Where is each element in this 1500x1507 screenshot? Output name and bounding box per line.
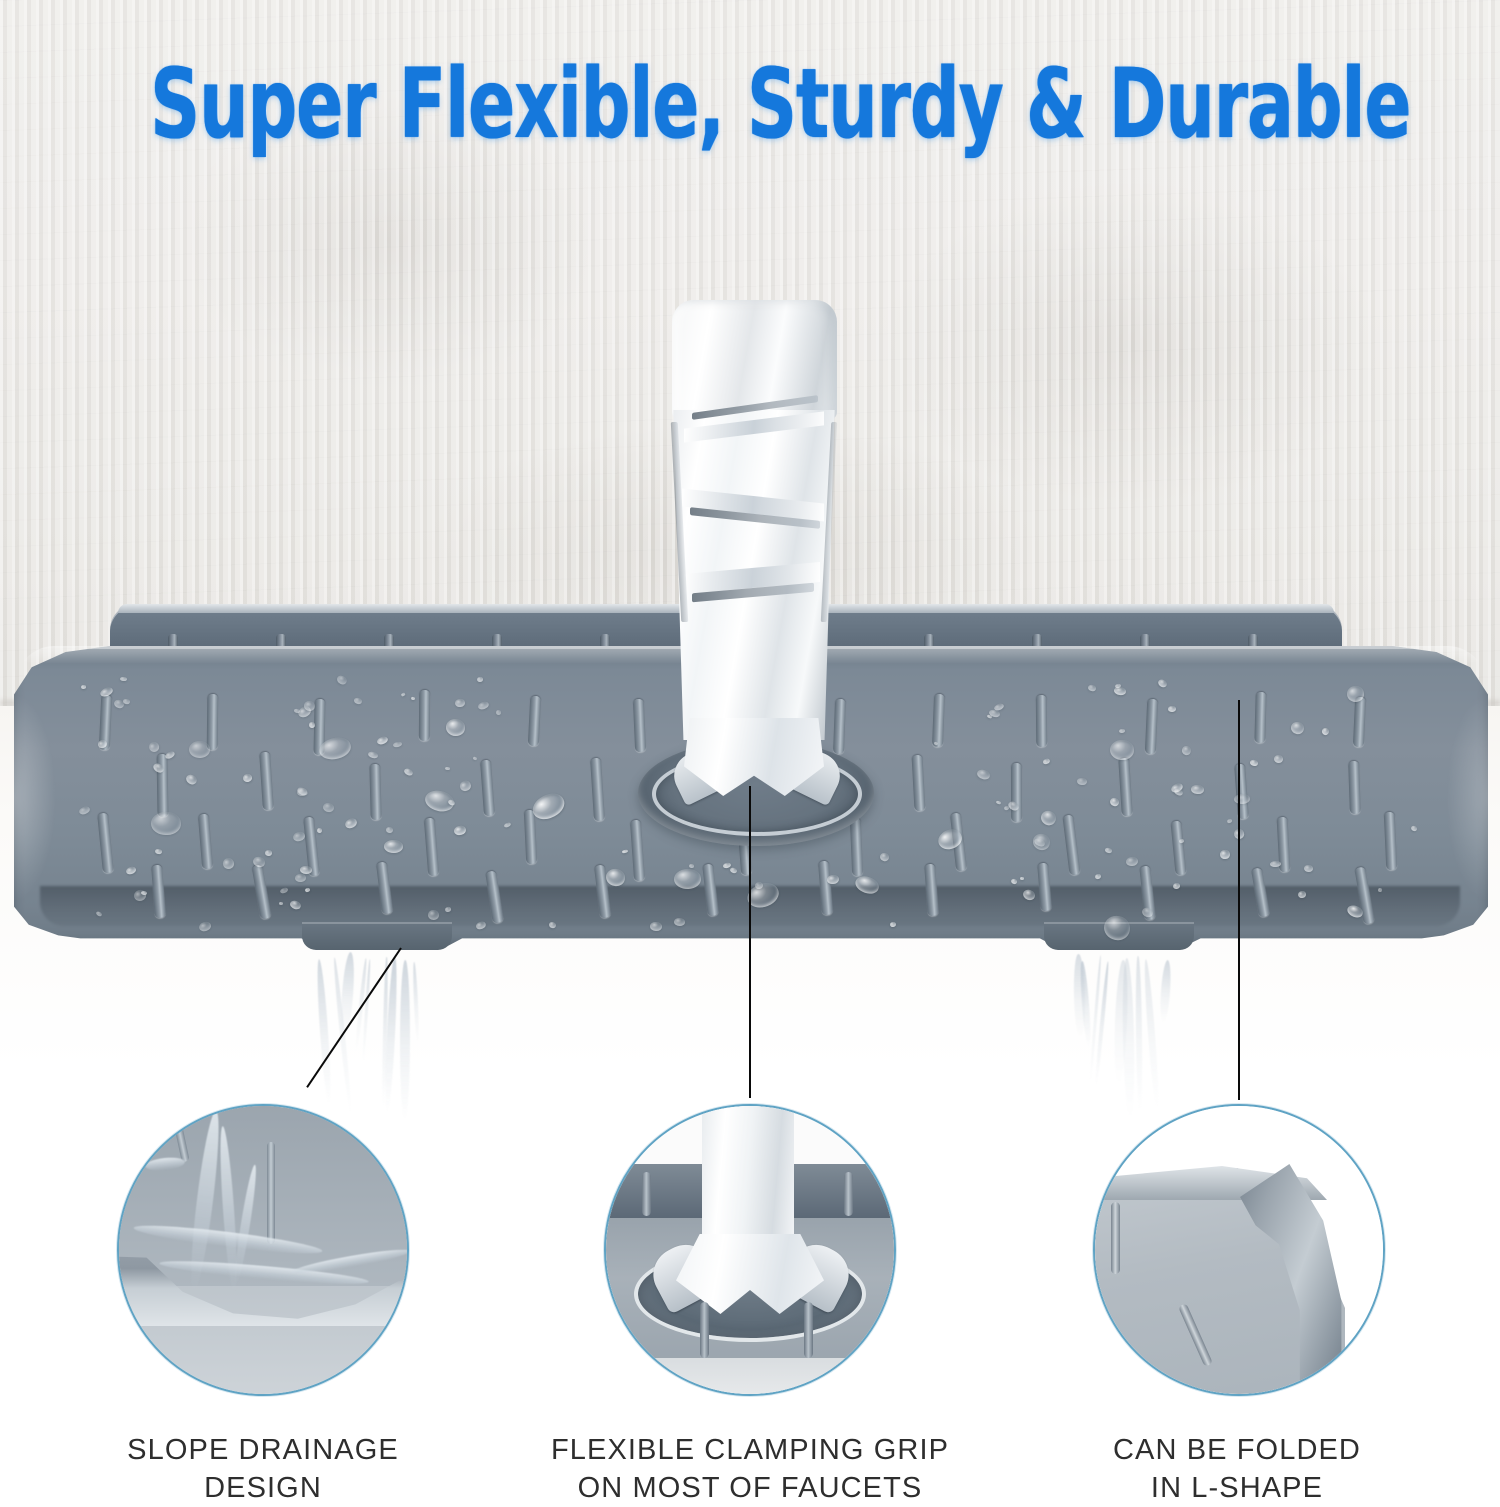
water-droplet bbox=[265, 850, 272, 856]
caption-line-1: CAN BE FOLDED bbox=[1022, 1432, 1452, 1470]
water-droplet bbox=[1191, 785, 1204, 795]
water-droplet bbox=[689, 864, 694, 868]
water-droplet bbox=[1233, 793, 1250, 804]
water-droplet bbox=[317, 828, 322, 833]
mat-ridge bbox=[419, 690, 430, 741]
mat-ridge bbox=[850, 817, 863, 875]
mat-ridge bbox=[1035, 695, 1046, 747]
drain-spout-left bbox=[302, 922, 452, 950]
callout-l-shape-fold bbox=[1093, 1104, 1385, 1396]
water-droplet bbox=[1167, 706, 1175, 712]
water-droplet bbox=[279, 902, 283, 905]
connector-line-middle bbox=[749, 786, 751, 1098]
caption-line-2: ON MOST OF FAUCETS bbox=[535, 1470, 965, 1507]
product-feature-scene: Super Flexible, Sturdy & Durable bbox=[0, 0, 1500, 1500]
mat-ridge bbox=[1352, 697, 1365, 747]
mat-ridge bbox=[1254, 692, 1266, 743]
callout-clamping-grip bbox=[604, 1104, 896, 1396]
caption-line-2: IN L-SHAPE bbox=[1022, 1470, 1452, 1507]
mat-ridge bbox=[524, 810, 538, 864]
water-droplet bbox=[309, 722, 315, 728]
water-droplet bbox=[384, 839, 403, 852]
water-droplet bbox=[81, 685, 86, 689]
mat-ridge bbox=[1384, 811, 1398, 869]
mat-ridge bbox=[1145, 699, 1158, 755]
connector-line-right bbox=[1238, 700, 1240, 1100]
caption-line-1: SLOPE DRAINAGE bbox=[48, 1432, 478, 1470]
water-droplet bbox=[1076, 777, 1086, 785]
caption-clamping-grip: FLEXIBLE CLAMPING GRIP ON MOST OF FAUCET… bbox=[535, 1432, 965, 1507]
water-droplet bbox=[1269, 860, 1280, 867]
water-droplet bbox=[496, 710, 501, 715]
mat-ridge bbox=[369, 763, 381, 819]
mat-ridge bbox=[207, 694, 219, 750]
mat-ridge bbox=[1348, 761, 1361, 815]
callout-slope-drainage bbox=[117, 1104, 409, 1396]
caption-l-shape-fold: CAN BE FOLDED IN L-SHAPE bbox=[1022, 1432, 1452, 1507]
caption-line-2: DESIGN bbox=[48, 1470, 478, 1507]
chrome-faucet bbox=[640, 300, 870, 820]
page-title: Super Flexible, Sturdy & Durable bbox=[150, 56, 1350, 152]
water-stream bbox=[399, 960, 409, 1120]
water-droplet bbox=[323, 802, 335, 812]
water-droplet bbox=[650, 921, 662, 931]
mat-ridge bbox=[1010, 763, 1021, 822]
mat-ridge bbox=[932, 693, 945, 746]
water-droplet bbox=[189, 740, 210, 757]
water-droplet bbox=[304, 700, 316, 710]
caption-line-1: FLEXIBLE CLAMPING GRIP bbox=[535, 1432, 965, 1470]
caption-slope-drainage: SLOPE DRAINAGE DESIGN bbox=[48, 1432, 478, 1507]
water-droplet bbox=[674, 918, 685, 926]
